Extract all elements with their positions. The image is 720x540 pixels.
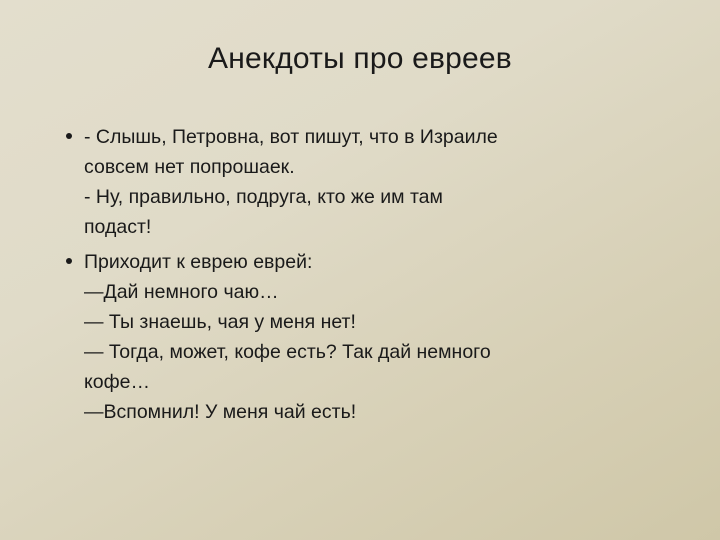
- slide-body: - Слышь, Петровна, вот пишут, что в Изра…: [30, 122, 690, 432]
- page-title: Анекдоты про евреев: [0, 42, 720, 76]
- bullet-line: совсем нет попрошаек.: [84, 152, 690, 182]
- bullet-dot-icon: [66, 133, 72, 139]
- bullet-line: подаст!: [84, 212, 690, 242]
- slide: Анекдоты про евреев - Слышь, Петровна, в…: [0, 0, 720, 540]
- bullet-list: - Слышь, Петровна, вот пишут, что в Изра…: [30, 122, 690, 427]
- bullet-line: кофе…: [84, 367, 690, 397]
- bullet-dot-icon: [66, 258, 72, 264]
- bullet-line: Приходит к еврею еврей:: [84, 247, 690, 277]
- bullet-line: - Слышь, Петровна, вот пишут, что в Изра…: [84, 122, 690, 152]
- list-item: - Слышь, Петровна, вот пишут, что в Изра…: [30, 122, 690, 242]
- bullet-line: — Ты знаешь, чая у меня нет!: [84, 307, 690, 337]
- list-item: Приходит к еврею еврей: —Дай немного чаю…: [30, 247, 690, 427]
- bullet-line: —Дай немного чаю…: [84, 277, 690, 307]
- bullet-line: — Тогда, может, кофе есть? Так дай немно…: [84, 337, 690, 367]
- bullet-line: - Ну, правильно, подруга, кто же им там: [84, 182, 690, 212]
- bullet-line: —Вспомнил! У меня чай есть!: [84, 397, 690, 427]
